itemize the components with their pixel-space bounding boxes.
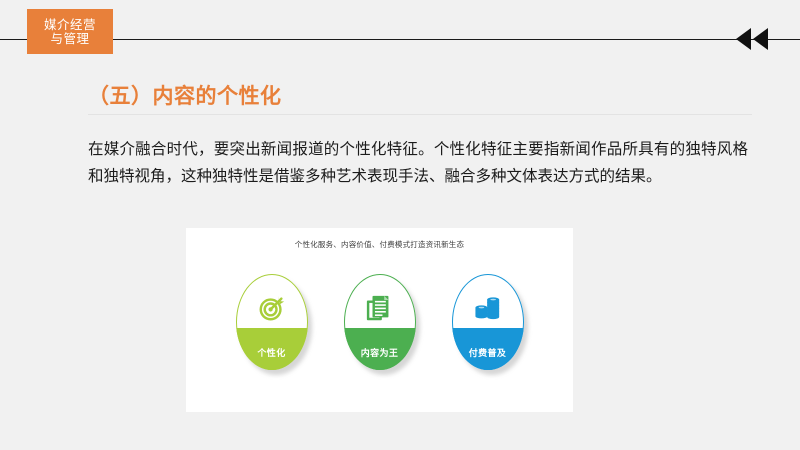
body-paragraph: 在媒介融合时代，要突出新闻报道的个性化特征。个性化特征主要指新闻作品所具有的独特… bbox=[88, 136, 748, 190]
nav-arrows-group[interactable] bbox=[736, 28, 782, 50]
brand-title-box: 媒介经营 与管理 bbox=[27, 9, 113, 54]
title-underline bbox=[88, 114, 752, 115]
triangle-left-icon-1[interactable] bbox=[736, 28, 751, 50]
triangle-left-icon-2[interactable] bbox=[753, 28, 768, 50]
ellipse-label: 付费普及 bbox=[452, 346, 524, 359]
figure-caption: 个性化服务、内容价值、付费模式打造资讯新生态 bbox=[186, 239, 573, 250]
brand-line-1: 媒介经营 bbox=[44, 18, 96, 31]
brand-line-2: 与管理 bbox=[50, 32, 89, 45]
slide-canvas: 媒介经营 与管理 （五）内容的个性化 在媒介融合时代，要突出新闻报道的个性化特征… bbox=[0, 0, 800, 450]
target-arrow-icon bbox=[236, 288, 308, 328]
documents-icon bbox=[344, 288, 416, 328]
figure-item-paid-adoption[interactable]: 付费普及 bbox=[452, 274, 524, 370]
figure-item-personalization[interactable]: 个性化 bbox=[236, 274, 308, 370]
coins-stack-icon bbox=[452, 288, 524, 328]
ellipse-label: 个性化 bbox=[236, 346, 308, 359]
figure-panel: 个性化服务、内容价值、付费模式打造资讯新生态 bbox=[186, 228, 573, 412]
page-title: （五）内容的个性化 bbox=[88, 80, 282, 110]
figure-ellipse-row: 个性化 bbox=[186, 274, 573, 394]
ellipse-label: 内容为王 bbox=[344, 346, 416, 359]
ellipse-body: 内容为王 bbox=[344, 274, 416, 370]
ellipse-body: 个性化 bbox=[236, 274, 308, 370]
ellipse-body: 付费普及 bbox=[452, 274, 524, 370]
header-divider-rule bbox=[0, 39, 800, 40]
figure-item-content-king[interactable]: 内容为王 bbox=[344, 274, 416, 370]
